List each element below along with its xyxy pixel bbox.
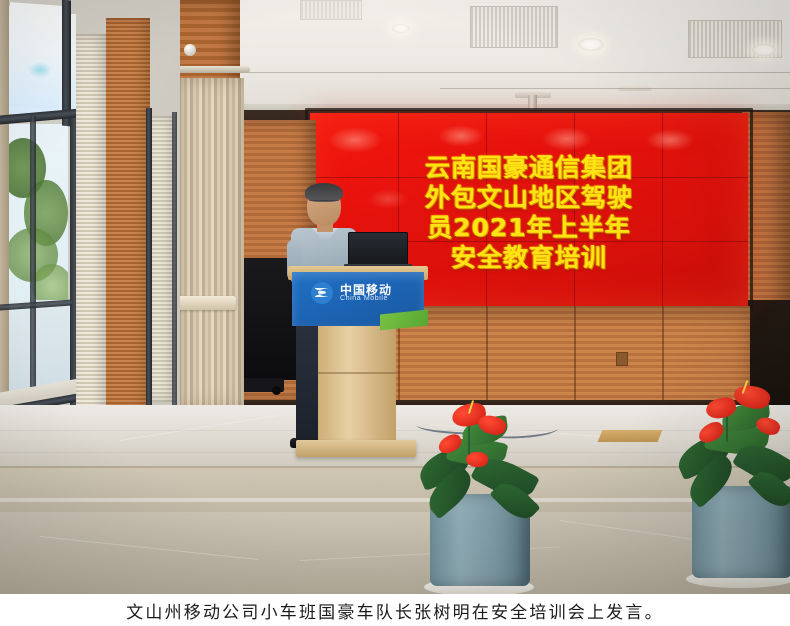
floor-cable-cover (598, 430, 663, 442)
ceiling-seam (440, 88, 790, 89)
podium-base (296, 440, 416, 457)
curtain (178, 78, 244, 408)
ceiling-vent (470, 6, 558, 48)
stage-edge-highlight (0, 498, 790, 502)
wall-outlet-icon (616, 352, 628, 366)
curtain-tieback (176, 296, 236, 310)
window-pane-trees (6, 124, 68, 314)
ceiling-downlight (752, 44, 776, 56)
caption-text: 文山州移动公司小车班国豪车队长张树明在安全培训会上发言。 (126, 598, 664, 623)
ceiling-downlight (392, 24, 410, 33)
ceiling-vent (300, 0, 362, 20)
podium-column-seam (318, 372, 396, 374)
laptop-screen (348, 232, 408, 268)
window-mullion (62, 0, 71, 126)
photo-caption: 文山州移动公司小车班国豪车队长张树明在安全培训会上发言。 (0, 594, 790, 626)
ceiling-downlight (578, 38, 604, 51)
china-mobile-logo-icon (310, 281, 334, 305)
ceiling-seam (246, 72, 790, 73)
sky-cloud (28, 62, 52, 78)
page-root: 云南国豪通信集团 外包文山地区驾驶 员2021年上半年 安全教育培训 (0, 0, 790, 626)
curtain-rod-knob (184, 44, 196, 56)
speaker-glasses-icon (309, 200, 339, 207)
window-blinds (76, 34, 108, 416)
stand-caster-icon (272, 386, 281, 395)
wood-slat-panel (106, 18, 150, 412)
window-mullion (146, 108, 152, 408)
lower-floor (0, 512, 790, 594)
photograph: 云南国豪通信集团 外包文山地区驾驶 员2021年上半年 安全教育培训 (0, 0, 790, 594)
podium-logo-text-en: China Mobile (340, 295, 388, 302)
stage-riser-face (0, 466, 790, 514)
window-mullion (172, 112, 177, 408)
window-mullion (30, 116, 36, 406)
podium-column (318, 326, 396, 444)
